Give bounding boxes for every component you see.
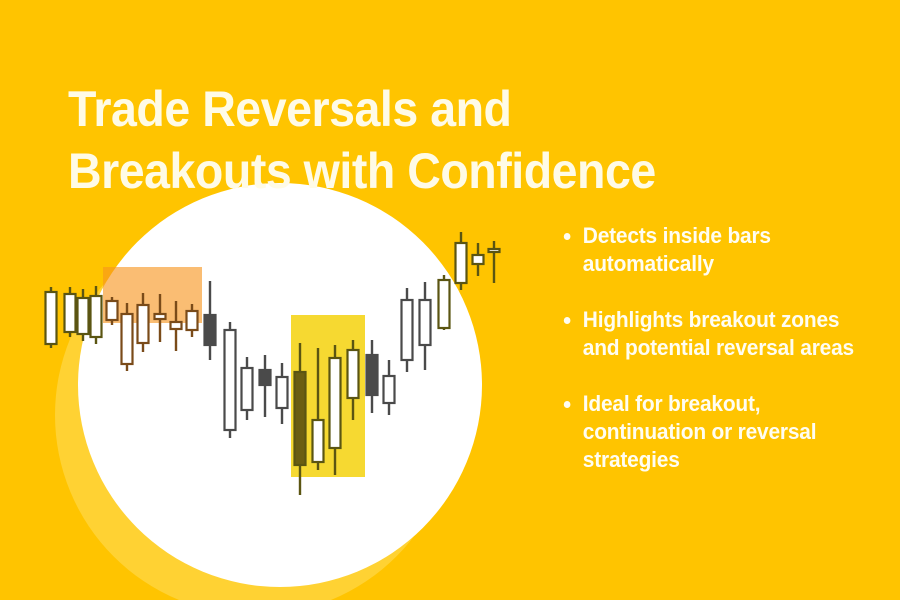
candle-body bbox=[171, 322, 182, 329]
candlestick bbox=[439, 275, 450, 330]
candle-body bbox=[187, 311, 198, 330]
candlestick bbox=[78, 289, 89, 341]
candle-body bbox=[107, 301, 118, 320]
candlestick bbox=[456, 232, 467, 290]
poster-canvas: Trade Reversals andBreakouts with Confid… bbox=[0, 0, 900, 600]
candlestick bbox=[107, 297, 118, 325]
feature-list: Detects inside bars automaticallyHighlig… bbox=[560, 222, 890, 474]
candle-body bbox=[205, 315, 216, 345]
candlestick bbox=[489, 241, 500, 283]
candle-body bbox=[439, 280, 450, 328]
candle-body bbox=[456, 243, 467, 283]
feature-item: Ideal for breakout, continuation or reve… bbox=[560, 390, 874, 474]
candle-body bbox=[122, 314, 133, 364]
candle-body bbox=[313, 420, 324, 462]
candle-body bbox=[91, 296, 102, 337]
page-title-line-2: Breakouts with Confidence bbox=[68, 140, 719, 202]
candlestick bbox=[122, 303, 133, 371]
page-title-line-1: Trade Reversals and bbox=[68, 78, 719, 140]
feature-item: Highlights breakout zones and potential … bbox=[560, 306, 874, 362]
candle-body bbox=[260, 370, 271, 385]
bullet-dot-icon bbox=[564, 233, 571, 240]
candle-body bbox=[295, 372, 306, 465]
candlestick bbox=[46, 287, 57, 348]
candle-body bbox=[489, 249, 500, 252]
bullet-dot-icon bbox=[564, 401, 571, 408]
background-circles bbox=[55, 183, 482, 600]
candle-body bbox=[330, 358, 341, 448]
page-title: Trade Reversals andBreakouts with Confid… bbox=[68, 78, 719, 202]
candlestick bbox=[225, 322, 236, 438]
bullet-dot-icon bbox=[564, 317, 571, 324]
candle-body bbox=[155, 314, 166, 319]
candle-body bbox=[367, 355, 378, 395]
candlestick bbox=[473, 243, 484, 276]
candlestick bbox=[65, 287, 76, 337]
candle-body bbox=[277, 377, 288, 408]
feature-item: Detects inside bars automatically bbox=[560, 222, 874, 278]
candle-body bbox=[402, 300, 413, 360]
candle-body bbox=[384, 376, 395, 403]
feature-item-label: Detects inside bars automatically bbox=[583, 223, 771, 276]
candle-body bbox=[420, 300, 431, 345]
candle-body bbox=[138, 305, 149, 343]
candle-body bbox=[242, 368, 253, 410]
candle-body bbox=[46, 292, 57, 344]
feature-item-label: Highlights breakout zones and potential … bbox=[583, 307, 854, 360]
candle-body bbox=[65, 294, 76, 332]
candle-body bbox=[225, 330, 236, 430]
feature-item-label: Ideal for breakout, continuation or reve… bbox=[583, 391, 817, 472]
candle-body bbox=[473, 255, 484, 264]
candle-body bbox=[78, 298, 89, 334]
candle-body bbox=[348, 350, 359, 398]
candlestick bbox=[402, 288, 413, 372]
